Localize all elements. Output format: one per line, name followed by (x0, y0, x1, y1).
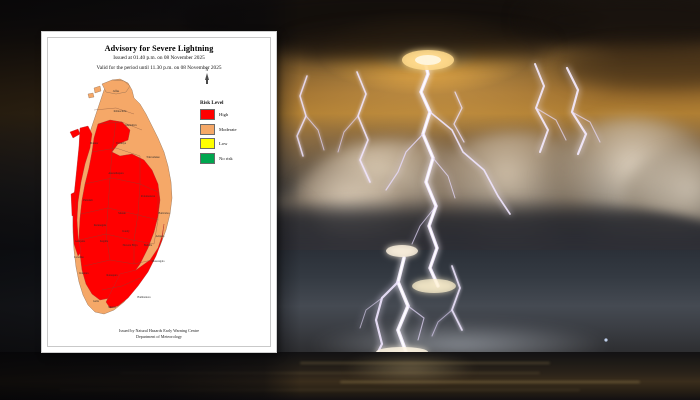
map-mannar-island (70, 129, 80, 138)
map-district-label: Gampaha (75, 240, 86, 243)
lightning-bolt-right-b (567, 68, 600, 154)
map-district-label: Anuradhapura (108, 172, 124, 175)
legend-swatch-moderate (200, 124, 215, 135)
map-district-label: Monaragala (152, 260, 166, 263)
advisory-panel: Advisory for Severe Lightning Issued at … (42, 32, 276, 352)
lightning-bolt-far-left (338, 72, 370, 182)
legend-swatch-high (200, 109, 215, 120)
map-district-label: Nuwara Eliya (123, 244, 139, 247)
lightning-bolt-right-a (535, 64, 566, 152)
lightning-bolt-center-small (454, 92, 464, 142)
legend-title: Risk Level (200, 100, 237, 106)
map-district-label: Kandy (122, 230, 130, 233)
map-district-label: Ratnapura (106, 274, 118, 277)
legend-item-no-risk: No risk (200, 153, 237, 164)
legend: Risk Level High Moderate Low No risk (200, 100, 237, 167)
risk-map: JaffnaKilinochchiMullaitivuMannarVavuniy… (54, 74, 194, 326)
map-district-label: Jaffna (113, 90, 120, 93)
map-district-label: Puttalam (83, 199, 93, 202)
map-district-label: Kalutara (79, 272, 89, 275)
map-district-label: Matale (118, 212, 126, 215)
legend-label-low: Low (219, 141, 227, 146)
north-arrow-stem (206, 80, 207, 84)
map-district-label: Galle (93, 300, 100, 303)
distant-light-dot (604, 338, 607, 341)
lightning-bolt-left (297, 76, 324, 156)
map-district-label: Kegalle (100, 240, 109, 243)
map-district-label: Mullaitivu (125, 124, 137, 127)
advisory-panel-inner: Advisory for Severe Lightning Issued at … (47, 37, 271, 347)
credit-line-2: Department of Meteorology (48, 334, 270, 340)
map-district-label: Matara (108, 306, 116, 309)
screenshot-root: Advisory for Severe Lightning Issued at … (0, 0, 700, 400)
map-district-label: Kurunegala (94, 224, 107, 227)
north-arrow-label: N (198, 68, 216, 72)
map-district-label: Polonnaruwa (141, 195, 156, 198)
lightning-bolt-sea-secondary (432, 266, 462, 336)
map-district-label: Batticaloa (159, 212, 171, 215)
map-coast-sliver (71, 192, 76, 216)
legend-label-moderate: Moderate (219, 127, 237, 132)
advisory-title: Advisory for Severe Lightning (48, 44, 270, 53)
map-district-label: Badulla (144, 244, 153, 247)
legend-item-low: Low (200, 138, 237, 149)
map-islet (88, 93, 94, 98)
legend-label-no-risk: No risk (219, 156, 233, 161)
legend-swatch-low (200, 138, 215, 149)
legend-label-high: High (219, 112, 228, 117)
legend-item-moderate: Moderate (200, 124, 237, 135)
map-district-label: Mannar (90, 142, 98, 145)
sea-streak (340, 381, 640, 383)
north-arrow: N (198, 68, 216, 84)
advisory-issued-line: Issued at 01.40 p.m. on 08 November 2025 (48, 55, 270, 63)
map-district-label: Ampara (156, 235, 165, 238)
map-district-label: Colombo (74, 256, 85, 259)
north-arrow-head (205, 73, 209, 80)
map-district-label: Hambantota (137, 296, 151, 299)
legend-swatch-no-risk (200, 153, 215, 164)
map-district-label: Kilinochchi (114, 110, 127, 113)
map-district-label: Trincomalee (146, 156, 160, 159)
advisory-credit: Issued by Natural Hazards Early Warning … (48, 328, 270, 340)
legend-item-high: High (200, 109, 237, 120)
map-district-label: Vavuniya (116, 142, 127, 145)
advisory-valid-line: Valid for the period until 11.30 p.m. on… (48, 65, 270, 73)
sea-streak (300, 362, 550, 364)
map-islet (94, 86, 101, 93)
lightning-bolt-sea-main (360, 245, 428, 357)
